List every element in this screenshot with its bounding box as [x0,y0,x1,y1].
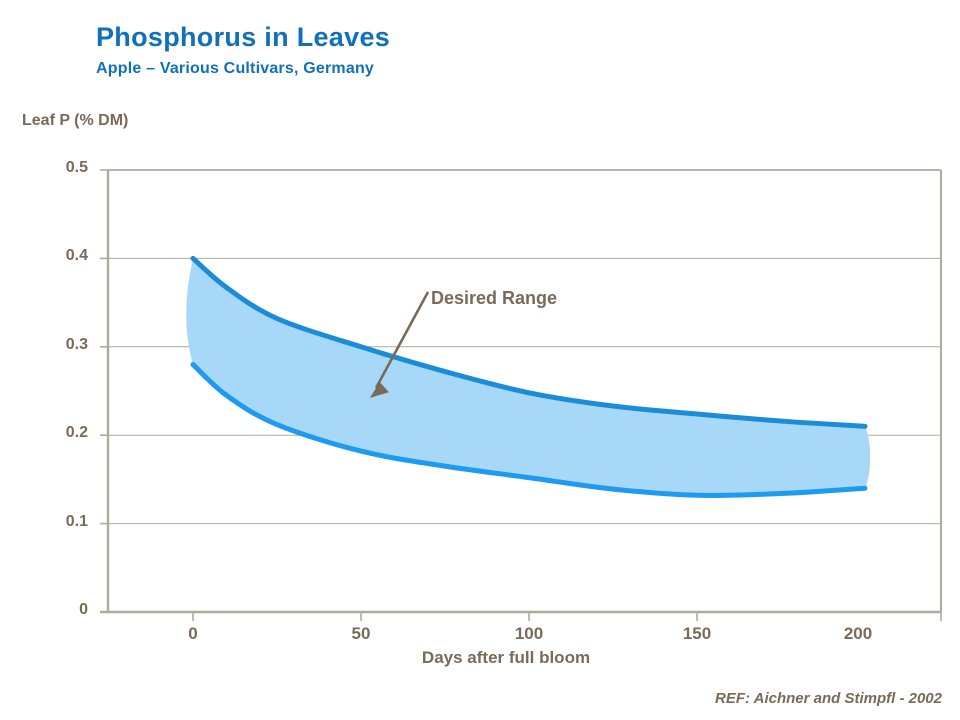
area-left-cap [186,258,193,364]
y-tick-label: 0.4 [26,247,88,265]
x-tick-label: 50 [331,624,391,644]
x-tick-label: 200 [828,624,888,644]
y-tick-label: 0.3 [26,336,88,354]
x-tick-label: 100 [499,624,559,644]
chart-container: Phosphorus in Leaves Apple – Various Cul… [0,0,960,720]
y-tick-label: 0 [26,601,88,619]
y-tick-label: 0.1 [26,513,88,531]
reference-note: REF: Aichner and Stimpfl - 2002 [715,690,942,707]
y-tick-label: 0.5 [26,159,88,177]
plot-svg [0,0,960,720]
x-tick-label: 0 [163,624,223,644]
x-tick-label: 150 [667,624,727,644]
x-axis-label: Days after full bloom [0,648,960,668]
annotation-desired-range: Desired Range [431,288,557,309]
x-axis-label-text: Days after full bloom [422,648,590,668]
y-tick-label: 0.2 [26,424,88,442]
